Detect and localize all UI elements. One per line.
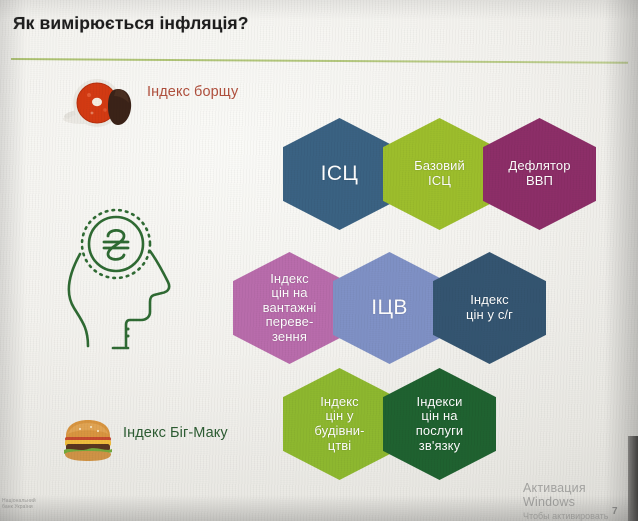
hex-construction-price-index-label: Індекс цін у будівни- цтві	[314, 395, 364, 453]
presentation-slide-photo: Як вимірюється інфляція? Індекс борщу	[0, 0, 638, 521]
monitor-bezel-edge	[628, 436, 638, 521]
slide-number: 7	[612, 506, 618, 517]
indices-honeycomb: ІСЦ Базовий ІСЦ Дефлятор ВВП Індекс цін …	[210, 110, 630, 492]
hex-cpi-label: ІСЦ	[321, 162, 359, 186]
hex-agricultural-price-index[interactable]: Індекс цін у с/г	[433, 252, 546, 364]
head-with-hryvnia-coin-icon	[58, 196, 210, 356]
hex-core-cpi-label: Базовий ІСЦ	[414, 159, 465, 188]
hex-ppi[interactable]: ІЦВ	[333, 252, 446, 364]
hex-cpi[interactable]: ІСЦ	[283, 118, 396, 230]
hex-communication-services-price-index-label: Індекси цін на послуги зв'язку	[416, 395, 464, 453]
hex-communication-services-price-index[interactable]: Індекси цін на послуги зв'язку	[383, 368, 496, 480]
title-underline-rule	[11, 58, 628, 64]
hex-freight-transport-price-index-label: Індекс цін на вантажні переве- зення	[263, 272, 317, 345]
hex-agricultural-price-index-label: Індекс цін у с/г	[466, 293, 513, 322]
hex-construction-price-index[interactable]: Індекс цін у будівни- цтві	[283, 368, 396, 480]
windows-activation-watermark: Активация Windows Чтобы активировать Win…	[523, 481, 638, 521]
hex-gdp-deflator[interactable]: Дефлятор ВВП	[483, 118, 596, 230]
borscht-bowl-icon	[62, 77, 140, 133]
hamburger-icon	[62, 418, 114, 469]
borscht-index-label: Індекс борщу	[147, 84, 238, 102]
windows-activation-subtitle: Чтобы активировать Windows, перейдите в …	[523, 511, 638, 521]
footer-organization-logo: Національний банк України	[2, 498, 36, 511]
hex-freight-transport-price-index[interactable]: Індекс цін на вантажні переве- зення	[233, 252, 346, 364]
windows-activation-title: Активация Windows	[523, 481, 638, 509]
hex-ppi-label: ІЦВ	[371, 296, 408, 320]
footer-logo-line2: банк України	[2, 504, 36, 510]
hex-gdp-deflator-label: Дефлятор ВВП	[508, 159, 570, 188]
slide-title: Як вимірюється інфляція?	[13, 13, 249, 34]
hex-core-cpi[interactable]: Базовий ІСЦ	[383, 118, 496, 230]
